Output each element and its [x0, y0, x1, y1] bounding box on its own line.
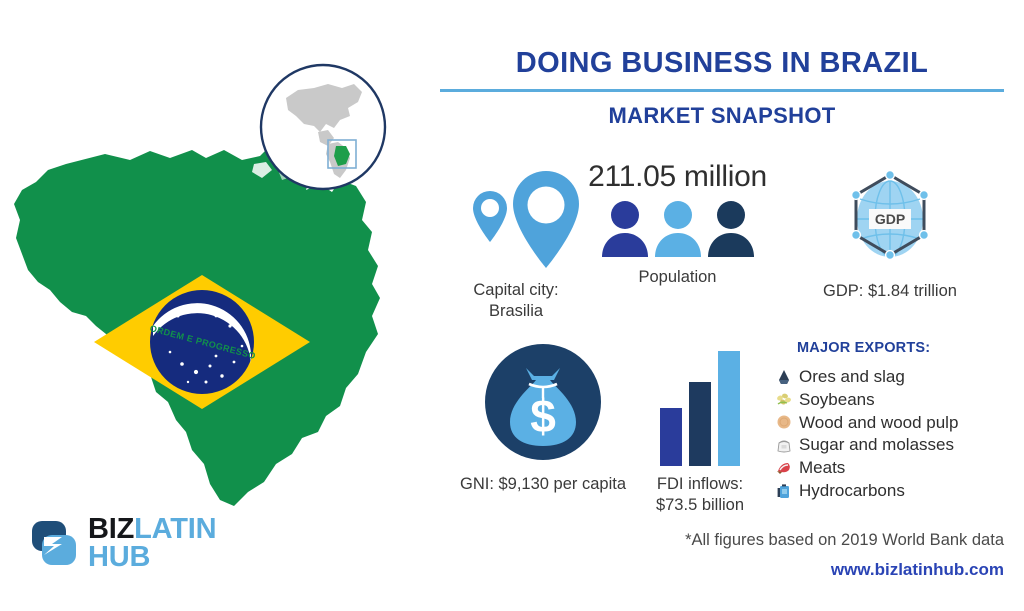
- svg-text:GDP: GDP: [875, 211, 905, 227]
- list-item: Sugar and molasses: [775, 434, 1020, 456]
- ore-rock-icon: [775, 368, 793, 386]
- map-panel: ORDEM E PROGRESSO: [0, 0, 420, 611]
- logo-wordmark: BIZLATIN HUB: [88, 515, 216, 572]
- wood-pulp-icon: [775, 413, 793, 431]
- page-subtitle: MARKET SNAPSHOT: [430, 103, 1014, 129]
- svg-text:$: $: [530, 390, 556, 442]
- stat-fdi-label: FDI inflows: $73.5 billion: [620, 474, 780, 515]
- export-label: Soybeans: [799, 389, 875, 411]
- meat-cut-icon: [775, 459, 793, 477]
- page-title: DOING BUSINESS IN BRAZIL: [430, 48, 1014, 80]
- major-exports-title: MAJOR EXPORTS:: [775, 340, 1020, 356]
- logo-word-hub: HUB: [88, 543, 216, 571]
- stat-gdp-label: GDP: $1.84 trillion: [770, 281, 1010, 302]
- stat-population: 211.05 million Pop: [575, 162, 780, 288]
- list-item: Soybeans: [775, 389, 1020, 411]
- bar-chart-icon: [620, 340, 780, 466]
- major-exports-list: MAJOR EXPORTS: Ores and slag: [775, 340, 1020, 503]
- chart-bar: [660, 408, 682, 466]
- logo-word-biz: BIZ: [88, 513, 134, 545]
- americas-locator-icon: [258, 62, 388, 192]
- sugar-sack-icon: [775, 436, 793, 454]
- list-item: Hydrocarbons: [775, 480, 1020, 502]
- content-panel: DOING BUSINESS IN BRAZIL MARKET SNAPSHOT…: [420, 0, 1024, 611]
- infographic-page: ORDEM E PROGRESSO: [0, 0, 1024, 611]
- people-icon: [575, 197, 780, 259]
- export-label: Wood and wood pulp: [799, 412, 958, 434]
- chart-bar: [689, 382, 711, 466]
- title-divider: [440, 89, 1004, 92]
- biz-latin-hub-logo[interactable]: BIZLATIN HUB: [28, 508, 228, 578]
- list-item: Meats: [775, 457, 1020, 479]
- header: DOING BUSINESS IN BRAZIL MARKET SNAPSHOT: [430, 48, 1014, 129]
- export-label: Sugar and molasses: [799, 434, 954, 456]
- soybeans-icon: [775, 391, 793, 409]
- stat-gdp: GDP GDP: $1.84 trillion: [770, 165, 1010, 302]
- export-label: Hydrocarbons: [799, 480, 905, 502]
- export-label: Ores and slag: [799, 366, 905, 388]
- logo-word-latin: LATIN: [134, 513, 216, 545]
- fuel-can-icon: [775, 482, 793, 500]
- stat-fdi: FDI inflows: $73.5 billion: [620, 340, 780, 515]
- biz-latin-hub-logo-icon: [28, 517, 80, 569]
- globe-hexagon-icon: GDP: [770, 165, 1010, 273]
- list-item: Wood and wood pulp: [775, 412, 1020, 434]
- stat-population-label: Population: [575, 267, 780, 288]
- list-item: Ores and slag: [775, 366, 1020, 388]
- chart-bar: [718, 351, 740, 467]
- export-label: Meats: [799, 457, 845, 479]
- footnote: *All figures based on 2019 World Bank da…: [420, 531, 1004, 550]
- website-link[interactable]: www.bizlatinhub.com: [420, 560, 1004, 580]
- population-value: 211.05 million: [575, 162, 780, 192]
